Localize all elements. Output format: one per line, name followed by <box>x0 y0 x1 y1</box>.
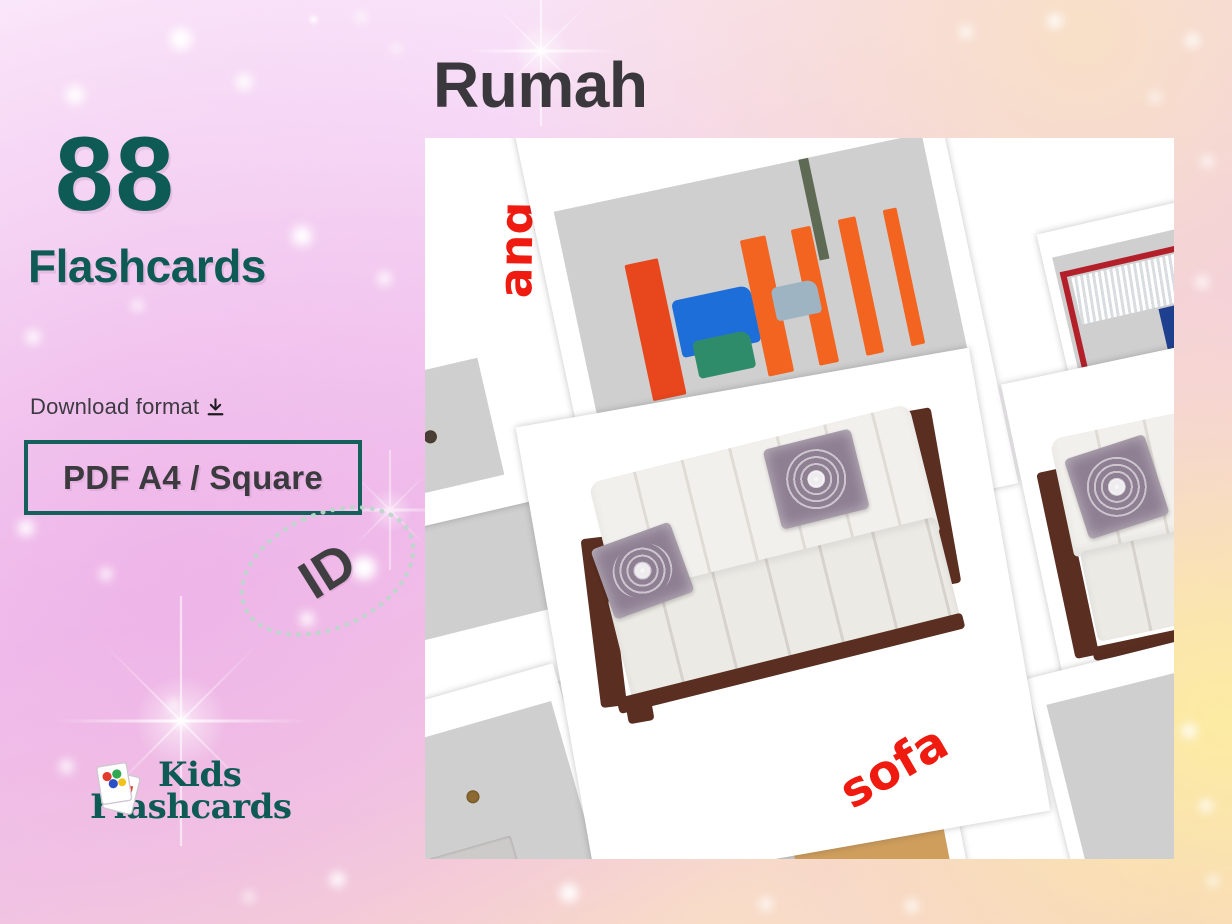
flashcard-count: 88 <box>55 122 176 227</box>
download-format-button[interactable]: PDF A4 / Square <box>24 440 362 515</box>
bokeh-dot <box>560 884 578 902</box>
bokeh-dot <box>1200 800 1212 812</box>
flashcards-logo-icon <box>92 758 148 820</box>
brand-logo[interactable]: Kids Flashcards <box>92 758 292 823</box>
flashcard-sofa-main[interactable]: sofa <box>516 348 1051 859</box>
green-grass-photo <box>1046 640 1174 859</box>
page-title: Rumah <box>433 48 647 122</box>
download-icon <box>207 397 224 417</box>
sofa-foot <box>624 694 654 724</box>
info-panel: 88 Flashcards Download format PDF A4 / S… <box>0 0 425 924</box>
garage-pillar <box>883 208 926 347</box>
sofa-right-partial-photo <box>1028 370 1174 669</box>
white-sofa-photo <box>557 386 996 731</box>
brand-name: Kids Flashcards <box>152 760 292 823</box>
bokeh-dot <box>1208 876 1218 886</box>
bokeh-dot <box>760 898 772 910</box>
flashcard-collage[interactable]: r ang rkir <box>425 138 1174 859</box>
download-format-value: PDF A4 / Square <box>63 459 323 497</box>
download-format-text: Download format <box>30 394 199 420</box>
garage-pillar <box>838 216 884 356</box>
flashcard-word-sofa: sofa <box>830 714 957 820</box>
download-format-label: Download format <box>30 394 224 420</box>
bokeh-dot <box>1048 14 1062 28</box>
garage-column-photo <box>425 358 504 505</box>
bokeh-dot <box>1202 156 1213 167</box>
bokeh-dot <box>1182 724 1196 738</box>
bokeh-dot <box>906 900 918 912</box>
bokeh-dot <box>1196 276 1208 288</box>
hinge-screw <box>465 789 481 805</box>
bokeh-dot <box>960 26 972 38</box>
bokeh-dot <box>1150 92 1160 102</box>
hinge-plate <box>425 835 528 859</box>
flashcard-count-label: Flashcards <box>28 243 266 289</box>
column-bolt <box>425 429 438 445</box>
bokeh-dot <box>1186 34 1199 47</box>
